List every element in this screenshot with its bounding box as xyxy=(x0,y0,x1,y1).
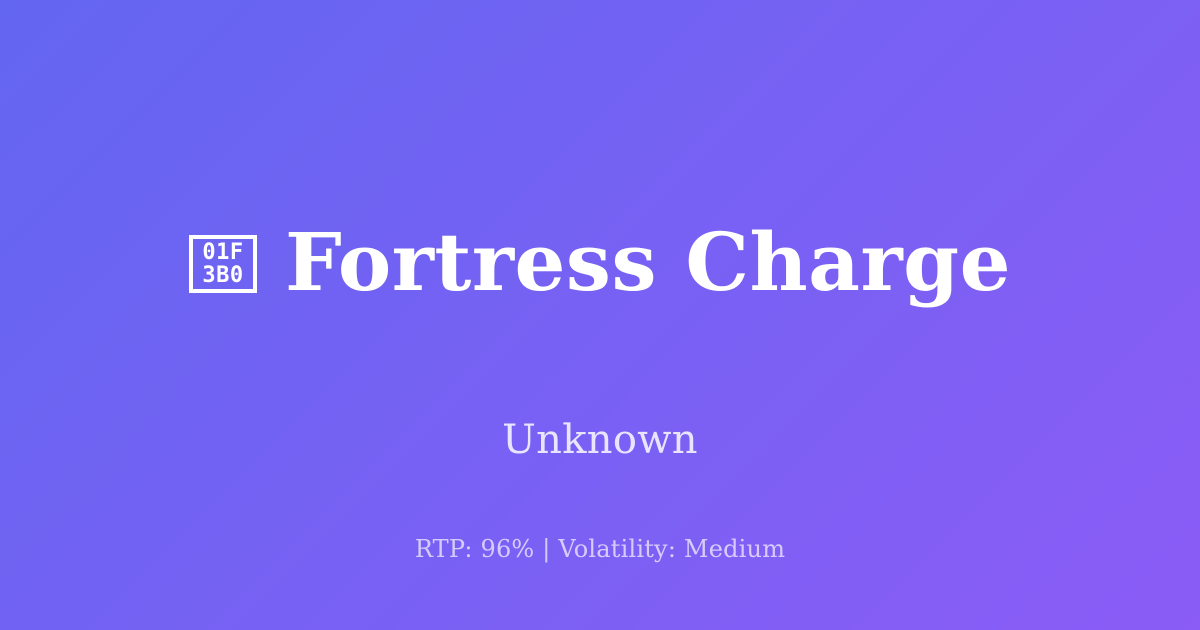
game-subtitle: Unknown xyxy=(502,416,698,464)
tofu-codepoint-top: 01F xyxy=(202,241,243,264)
page-title: Fortress Charge xyxy=(285,220,1011,304)
og-card: 01F 3B0 Fortress Charge Unknown RTP: 96%… xyxy=(0,0,1200,630)
game-stats: RTP: 96% | Volatility: Medium xyxy=(0,535,1200,564)
tofu-codepoint-bottom: 3B0 xyxy=(202,264,243,287)
title-row: 01F 3B0 Fortress Charge xyxy=(149,166,1051,357)
slot-machine-icon: 01F 3B0 xyxy=(189,235,257,293)
